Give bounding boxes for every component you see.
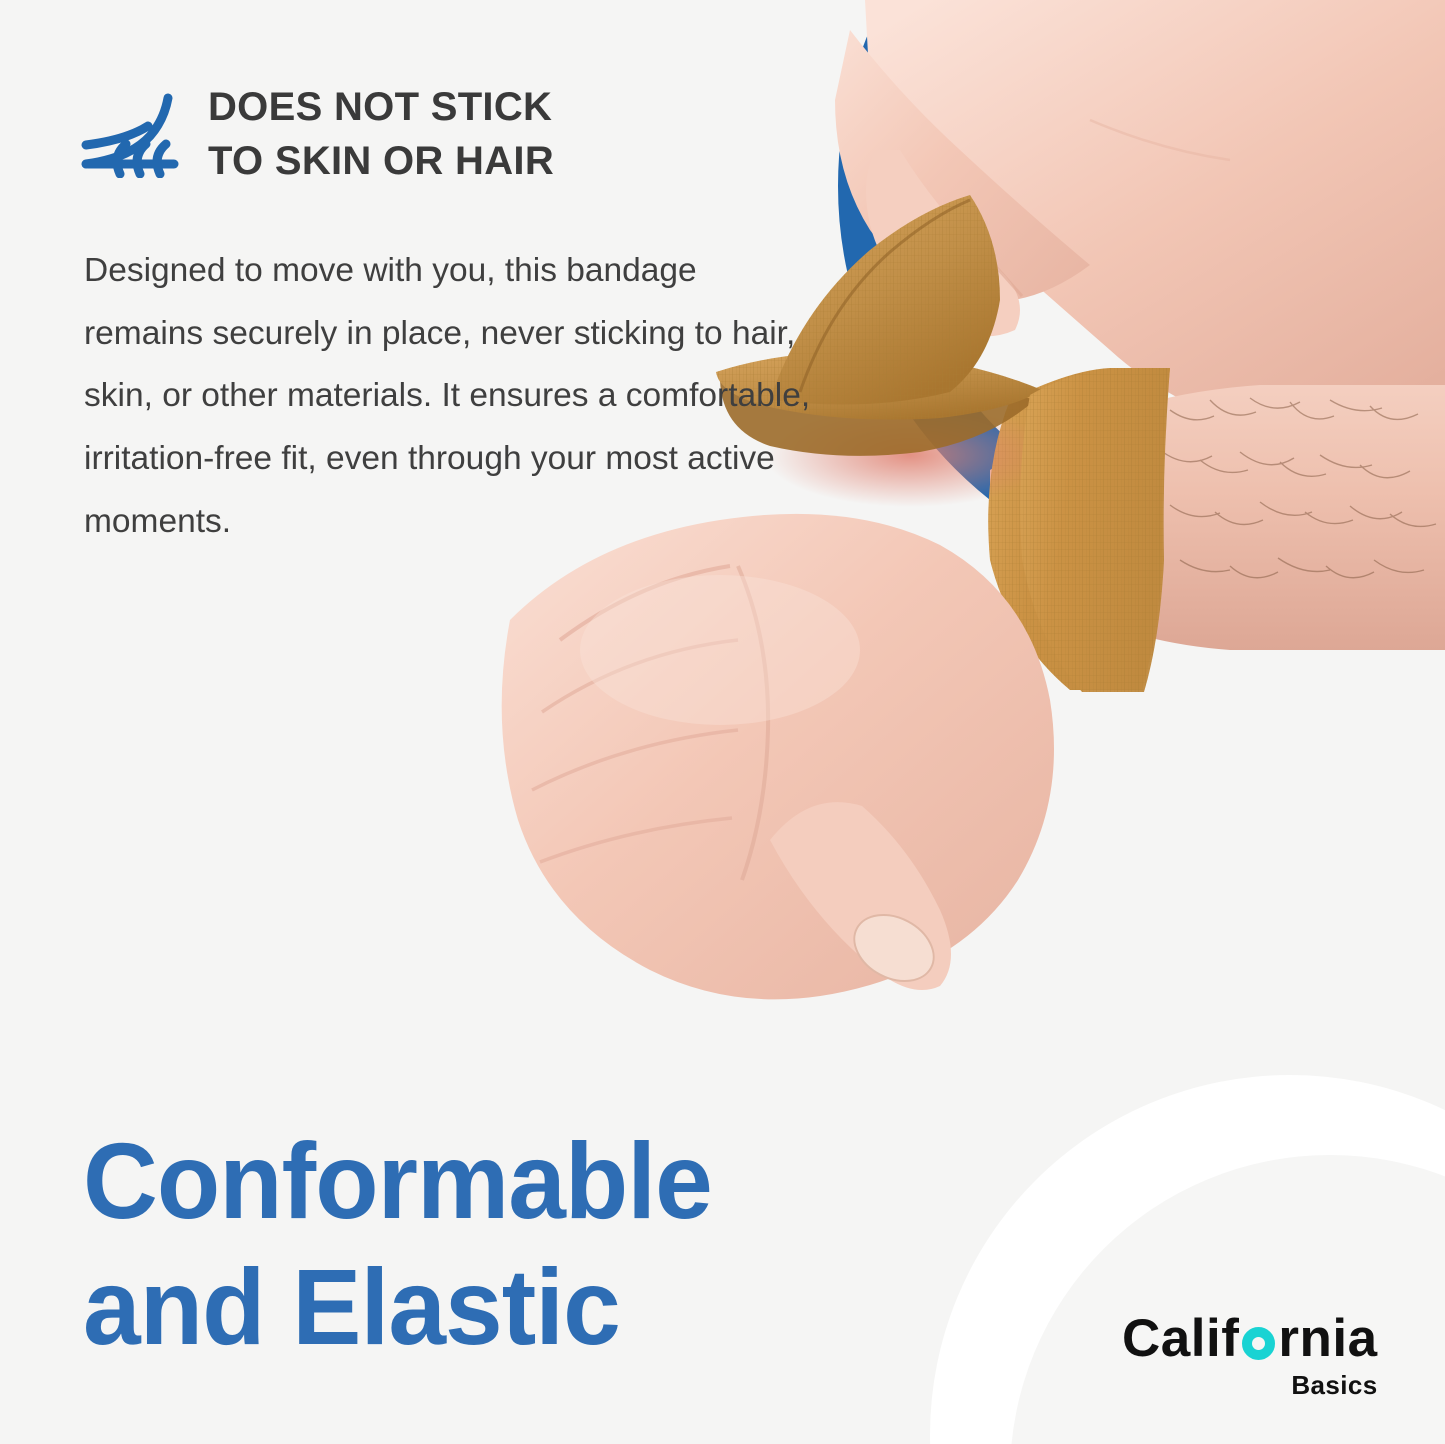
product-feature-card: DOES NOT STICK TO SKIN OR HAIR Designed … — [0, 0, 1445, 1444]
feature-header: DOES NOT STICK TO SKIN OR HAIR — [78, 78, 818, 188]
headline: Conformable and Elastic — [83, 1118, 712, 1371]
non-stick-hair-icon — [78, 82, 182, 178]
logo-wordmark: Calif rnia — [1122, 1312, 1378, 1365]
logo-subtitle: Basics — [1122, 1372, 1378, 1398]
brand-logo: Calif rnia Basics — [1122, 1312, 1378, 1398]
logo-o-ring-icon — [1242, 1327, 1275, 1360]
feature-block: DOES NOT STICK TO SKIN OR HAIR Designed … — [78, 78, 818, 553]
feature-description: Designed to move with you, this bandage … — [84, 240, 814, 553]
logo-word-part-2: rnia — [1278, 1312, 1377, 1365]
logo-word-part-1: Calif — [1122, 1312, 1239, 1365]
feature-title: DOES NOT STICK TO SKIN OR HAIR — [208, 78, 554, 188]
